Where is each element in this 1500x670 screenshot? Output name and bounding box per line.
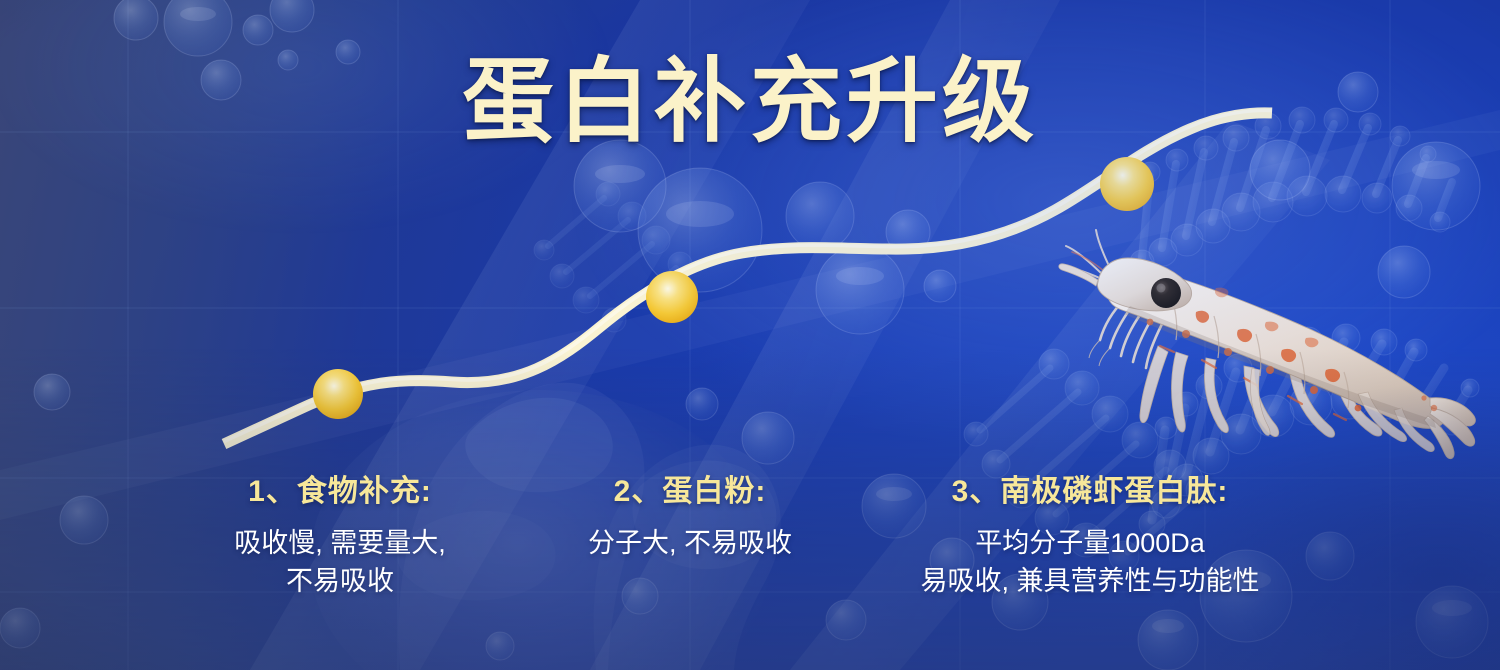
step-1-block: 1、食物补充: 吸收慢, 需要量大, 不易吸收 [130,466,550,601]
protein-upgrade-banner: 蛋白补充升级 1、食物补充: 吸收慢, 需要量大, 不易吸收 2、蛋白粉: 分子… [0,0,1500,670]
step-1-heading: 1、食物补充: [130,466,550,510]
page-title: 蛋白补充升级 [0,56,1500,148]
step-1-body: 吸收慢, 需要量大, 不易吸收 [130,524,550,601]
step-2-body-line-1: 分子大, 不易吸收 [500,524,880,562]
step-2-body: 分子大, 不易吸收 [500,524,880,562]
step-3-body: 平均分子量1000Da 易吸收, 兼具营养性与功能性 [830,524,1350,601]
step-2-heading: 2、蛋白粉: [500,466,880,510]
step-1-body-line-1: 吸收慢, 需要量大, [130,524,550,562]
step-3-block: 3、南极磷虾蛋白肽: 平均分子量1000Da 易吸收, 兼具营养性与功能性 [830,466,1350,601]
step-3-body-line-1: 平均分子量1000Da [830,524,1350,562]
step-2-block: 2、蛋白粉: 分子大, 不易吸收 [500,466,880,562]
step-3-heading: 3、南极磷虾蛋白肽: [830,466,1350,510]
step-3-body-line-2: 易吸收, 兼具营养性与功能性 [830,562,1350,600]
step-1-body-line-2: 不易吸收 [130,562,550,600]
